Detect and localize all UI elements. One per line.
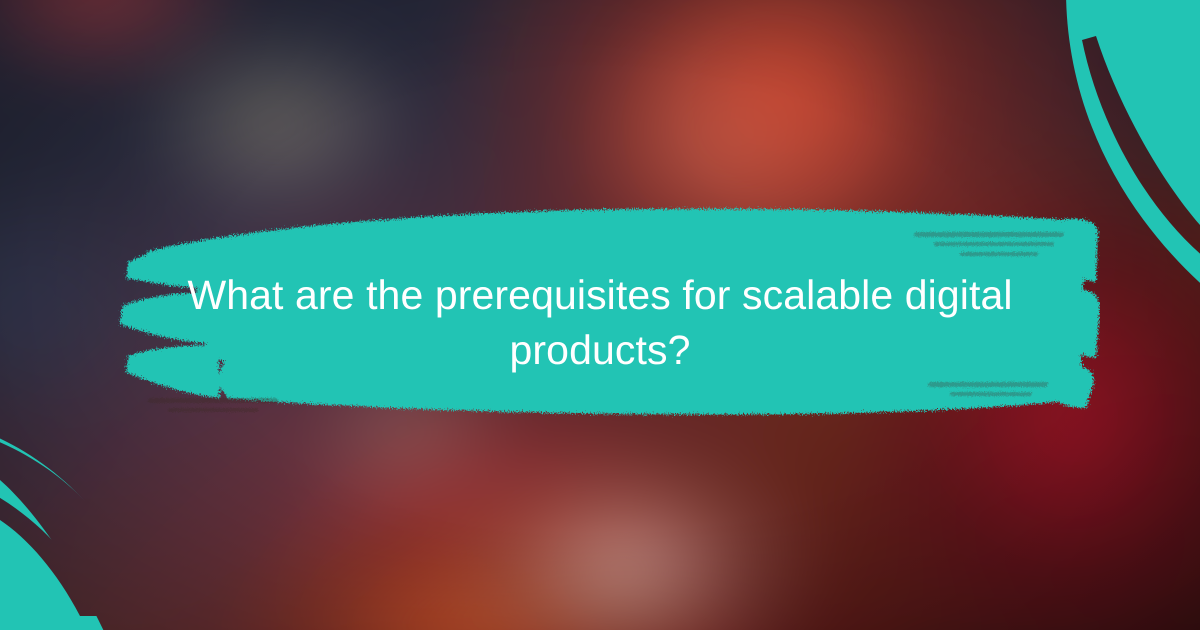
page-title: What are the prerequisites for scalable … (150, 268, 1050, 378)
cover-canvas: What are the prerequisites for scalable … (0, 0, 1200, 630)
